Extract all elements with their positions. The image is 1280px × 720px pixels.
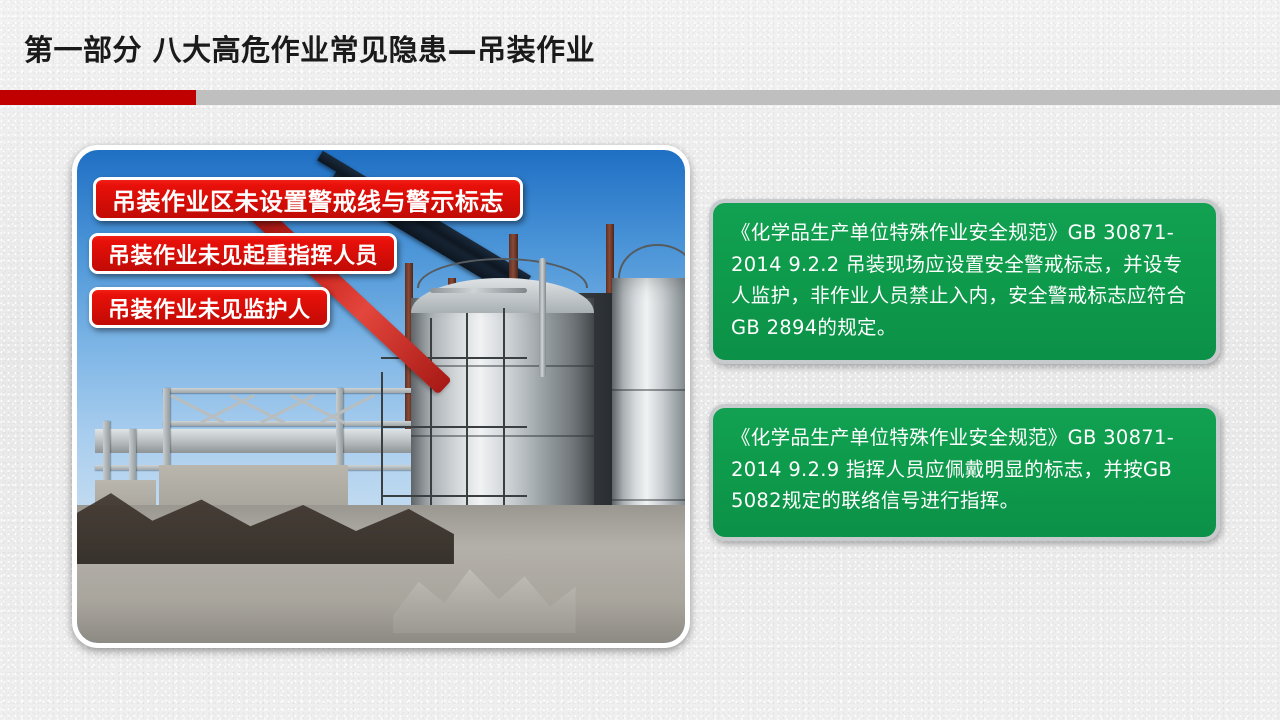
page-title: 第一部分 八大高危作业常见隐患—吊装作业 — [24, 32, 595, 68]
photo-tank-pipe-h — [430, 288, 527, 293]
standard-box-2: 《化学品生产单位特殊作业安全规范》GB 30871-2014 9.2.9 指挥人… — [709, 404, 1220, 541]
photo-post-4 — [336, 388, 343, 475]
photo-truss-2 — [200, 394, 255, 424]
photo-truss-1 — [170, 394, 225, 424]
standard-box-1: 《化学品生产单位特殊作业安全规范》GB 30871-2014 9.2.2 吊装现… — [709, 199, 1220, 364]
photo-tank2-ring-1 — [612, 389, 685, 391]
photo-tank-pipe-v — [539, 258, 546, 376]
callout-label: 吊装作业区未设置警戒线与警示标志 — [112, 182, 504, 217]
divider-red-segment — [0, 90, 196, 105]
callout-label: 吊装作业未见监护人 — [108, 292, 311, 324]
photo-scaffold-h2 — [381, 426, 527, 428]
callout-hazard-2[interactable]: 吊装作业未见起重指挥人员 — [89, 233, 397, 274]
site-photo: 吊装作业区未设置警戒线与警示标志 吊装作业未见起重指挥人员 吊装作业未见监护人 — [77, 150, 685, 643]
photo-truss-3 — [230, 394, 285, 424]
slide-canvas: 第一部分 八大高危作业常见隐患—吊装作业 — [0, 0, 1280, 720]
callout-label: 吊装作业未见起重指挥人员 — [108, 238, 378, 270]
photo-truss-4 — [260, 394, 315, 424]
photo-scaffold-h3 — [381, 495, 527, 497]
photo-truss-6 — [321, 394, 376, 424]
standard-text: 《化学品生产单位特殊作业安全规范》GB 30871-2014 9.2.2 吊装现… — [731, 217, 1198, 343]
callout-hazard-3[interactable]: 吊装作业未见监护人 — [89, 287, 330, 328]
photo-tank2-ring-2 — [612, 499, 685, 501]
callout-hazard-1[interactable]: 吊装作业区未设置警戒线与警示标志 — [93, 177, 523, 221]
standard-text: 《化学品生产单位特殊作业安全规范》GB 30871-2014 9.2.9 指挥人… — [731, 422, 1198, 517]
header-divider — [0, 90, 1280, 105]
site-photo-frame: 吊装作业区未设置警戒线与警示标志 吊装作业未见起重指挥人员 吊装作业未见监护人 — [72, 145, 690, 648]
divider-gray-segment — [196, 90, 1280, 105]
